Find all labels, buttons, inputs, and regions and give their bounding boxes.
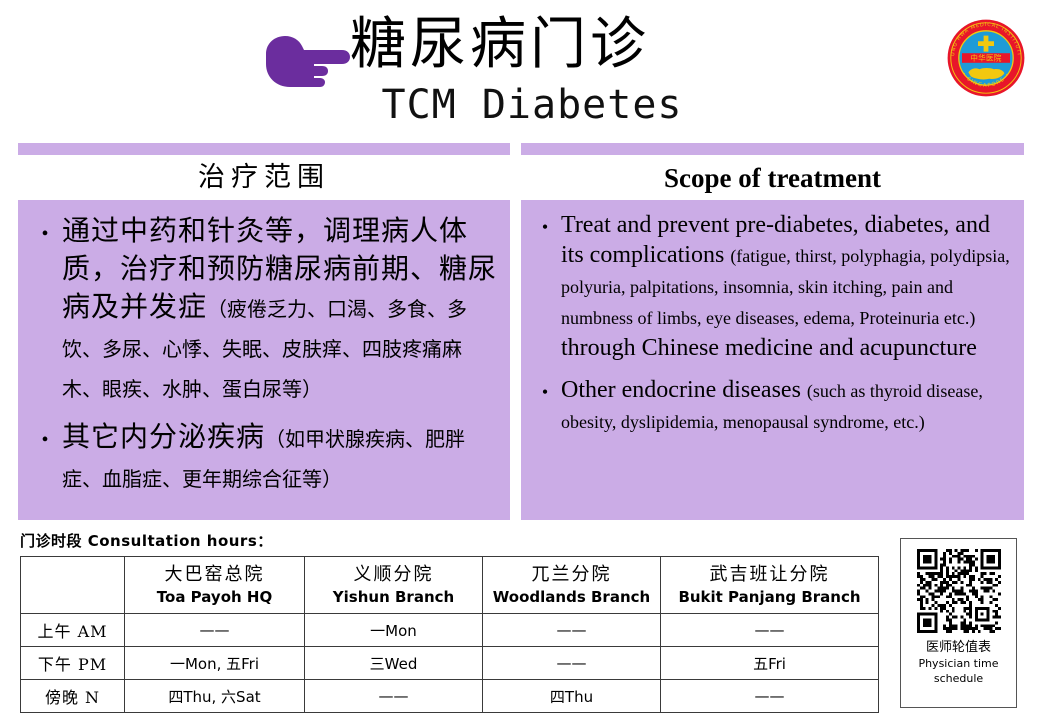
- list-item: • 通过中药和针灸等，调理病人体质，治疗和预防糖尿病前期、糖尿病及并发症（疲倦乏…: [28, 212, 498, 408]
- cell-am-yishun: 一Mon: [305, 614, 483, 647]
- cell-night-bukit-panjang: ——: [661, 680, 879, 713]
- cell-am-bukit-panjang: ——: [661, 614, 879, 647]
- cell-pm-woodlands: ——: [483, 647, 661, 680]
- page-title-zh: 糖尿病门诊: [350, 8, 710, 82]
- cell-night-toa-payoh: 四Thu, 六Sat: [125, 680, 305, 713]
- pointing-hand-icon: [256, 30, 352, 92]
- table-row: 上午 AM —— 一Mon —— ——: [21, 614, 879, 647]
- list-item: • Other endocrine diseases (such as thyr…: [529, 375, 1014, 437]
- bullet-icon: •: [28, 418, 62, 450]
- table-row: 傍晚 N 四Thu, 六Sat —— 四Thu ——: [21, 680, 879, 713]
- left-panel-top-bar: [18, 143, 510, 155]
- bullet-icon: •: [529, 210, 561, 236]
- table-header-row: 大巴窑总院 Toa Payoh HQ 义顺分院 Yishun Branch 兀兰…: [21, 557, 879, 614]
- table-header-cell-bukit-panjang: 武吉班让分院 Bukit Panjang Branch: [661, 557, 879, 614]
- row-label-night: 傍晚 N: [21, 680, 125, 713]
- left-panel-title: 治疗范围: [18, 158, 510, 198]
- svg-text:中华医院: 中华医院: [970, 53, 1002, 63]
- cell-am-toa-payoh: ——: [125, 614, 305, 647]
- table-row: 下午 PM 一Mon, 五Fri 三Wed —— 五Fri: [21, 647, 879, 680]
- bullet-icon: •: [28, 212, 62, 244]
- consultation-hours-label: 门诊时段 Consultation hours：: [20, 530, 273, 551]
- header: 糖尿病门诊 TCM Diabetes 中华医院 CHUNG HWA MEDICA…: [0, 0, 1040, 140]
- qr-caption: 医师轮值表 Physician time schedule: [918, 639, 998, 686]
- row-label-am: 上午 AM: [21, 614, 125, 647]
- qr-caption-zh: 医师轮值表: [918, 639, 998, 656]
- list-item: • 其它内分泌疾病（如甲状腺疾病、肥胖症、血脂症、更年期综合征等）: [28, 418, 498, 498]
- scope-list-en: • Treat and prevent pre-diabetes, diabet…: [521, 200, 1024, 437]
- bullet-tail-text: through Chinese medicine and acupuncture: [561, 335, 977, 361]
- table-header-cell-blank: [21, 557, 125, 614]
- right-panel-body: • Treat and prevent pre-diabetes, diabet…: [521, 200, 1024, 520]
- scope-list-zh: • 通过中药和针灸等，调理病人体质，治疗和预防糖尿病前期、糖尿病及并发症（疲倦乏…: [18, 200, 510, 498]
- consultation-hours-table: 大巴窑总院 Toa Payoh HQ 义顺分院 Yishun Branch 兀兰…: [20, 556, 879, 713]
- cell-pm-yishun: 三Wed: [305, 647, 483, 680]
- qr-caption-en-1: Physician time: [918, 657, 998, 670]
- list-item: • Treat and prevent pre-diabetes, diabet…: [529, 210, 1014, 363]
- page-title-en: TCM Diabetes: [352, 82, 712, 128]
- cell-pm-bukit-panjang: 五Fri: [661, 647, 879, 680]
- bullet-main-text: 其它内分泌疾病: [62, 420, 265, 453]
- right-panel-top-bar: [521, 143, 1024, 155]
- left-panel-body: • 通过中药和针灸等，调理病人体质，治疗和预防糖尿病前期、糖尿病及并发症（疲倦乏…: [18, 200, 510, 520]
- physician-schedule-qr-box[interactable]: 医师轮值表 Physician time schedule: [900, 538, 1017, 708]
- slide-page: 糖尿病门诊 TCM Diabetes 中华医院 CHUNG HWA MEDICA…: [0, 0, 1040, 720]
- cell-pm-toa-payoh: 一Mon, 五Fri: [125, 647, 305, 680]
- bullet-icon: •: [529, 375, 561, 401]
- chung-hwa-medical-institution-logo: 中华医院 CHUNG HWA MEDICAL INSTITUTION • SIN…: [946, 18, 1026, 98]
- cell-am-woodlands: ——: [483, 614, 661, 647]
- qr-caption-en-2: schedule: [934, 672, 983, 685]
- cell-night-woodlands: 四Thu: [483, 680, 661, 713]
- row-label-pm: 下午 PM: [21, 647, 125, 680]
- table-header-cell-yishun: 义顺分院 Yishun Branch: [305, 557, 483, 614]
- cell-night-yishun: ——: [305, 680, 483, 713]
- qr-code-icon[interactable]: [917, 549, 1001, 633]
- table-header-cell-toa-payoh: 大巴窑总院 Toa Payoh HQ: [125, 557, 305, 614]
- table-header-cell-woodlands: 兀兰分院 Woodlands Branch: [483, 557, 661, 614]
- bullet-main-text: Other endocrine diseases: [561, 377, 807, 403]
- right-panel-title: Scope of treatment: [521, 158, 1024, 198]
